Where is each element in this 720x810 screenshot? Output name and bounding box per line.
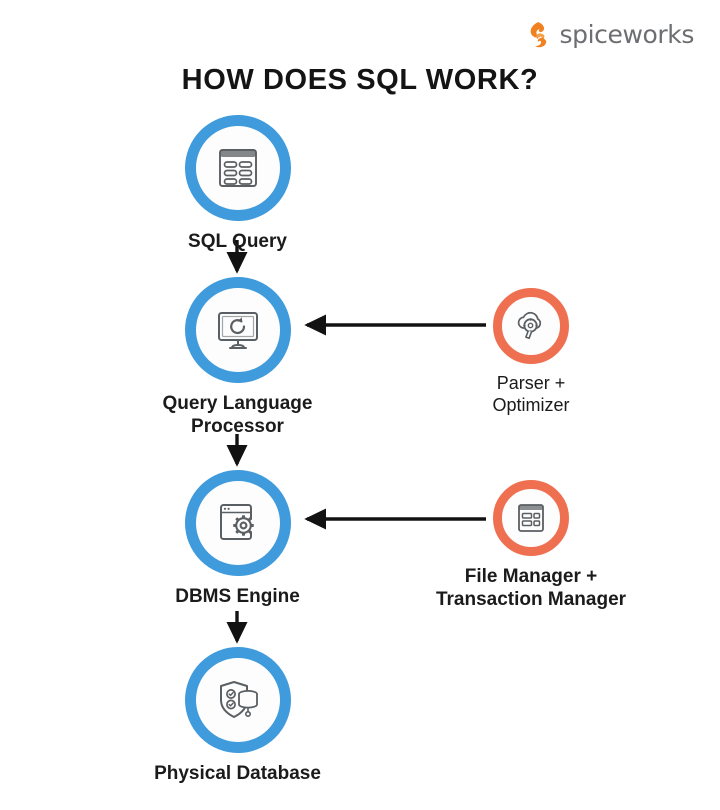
node-file-transaction-manager[interactable]: File Manager + Transaction Manager [492,480,570,611]
node-query-language-processor[interactable]: Query Language Processor [180,277,295,438]
node-physical-database-label: Physical Database [118,762,358,785]
monitor-refresh-icon [212,304,264,356]
node-sql-query[interactable]: SQL Query [180,115,295,253]
node-physical-database[interactable]: Physical Database [180,647,295,785]
node-sql-query-ring [185,115,291,221]
shield-database-icon [212,674,264,726]
window-gear-icon [212,497,264,549]
node-query-language-processor-ring [185,277,291,383]
node-dbms-engine[interactable]: DBMS Engine [180,470,295,608]
cloud-search-icon [511,306,551,346]
node-dbms-engine-label: DBMS Engine [118,585,358,608]
node-parser-optimizer-label: Parser + Optimizer [411,373,651,417]
node-file-transaction-manager-ring [493,480,569,556]
node-physical-database-ring [185,647,291,753]
node-parser-optimizer[interactable]: Parser + Optimizer [492,288,570,417]
node-file-transaction-manager-label: File Manager + Transaction Manager [406,565,656,611]
flow-diagram: SQL Query Query Language Processor [0,0,720,810]
node-parser-optimizer-ring [493,288,569,364]
node-sql-query-label: SQL Query [118,230,358,253]
node-dbms-engine-ring [185,470,291,576]
document-table-icon [512,499,550,537]
node-query-language-processor-label: Query Language Processor [118,392,358,438]
table-form-icon [213,143,263,193]
